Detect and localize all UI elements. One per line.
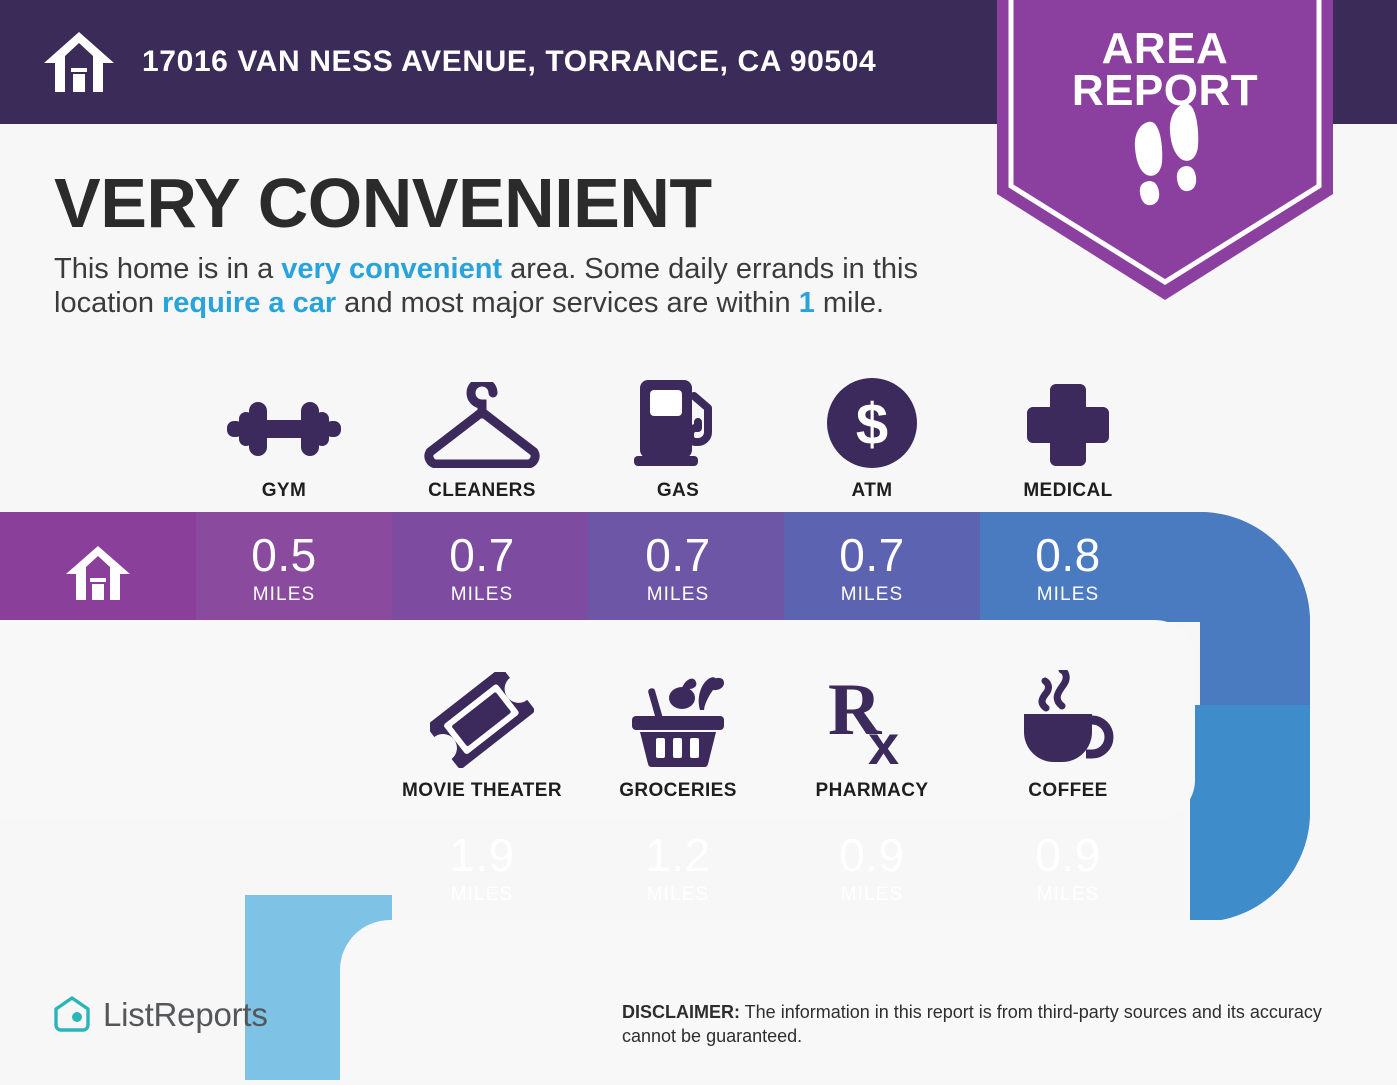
distance-cell-groceries: 1.2 MILES (580, 832, 776, 906)
distance-unit: MILES (970, 584, 1166, 606)
service-label: PHARMACY (774, 780, 970, 802)
distance-cell-pharmacy: 0.9 MILES (774, 832, 970, 906)
page-description: This home is in a very convenient area. … (54, 252, 994, 320)
service-gas: GAS (580, 372, 776, 502)
service-label: COFFEE (970, 780, 1166, 802)
listreports-house-icon (52, 995, 92, 1035)
distance-value: 0.9 (774, 832, 970, 878)
service-label: GYM (186, 480, 382, 502)
distance-value: 1.2 (580, 832, 776, 878)
service-label: CLEANERS (384, 480, 580, 502)
service-gym: GYM (186, 372, 382, 502)
distance-cell-cleaners: 0.7 MILES (384, 532, 580, 606)
distance-cell-atm: 0.7 MILES (774, 532, 970, 606)
service-movie-theater: MOVIE THEATER (384, 672, 580, 802)
distance-unit: MILES (186, 584, 382, 606)
distance-cell-movie-theater: 1.9 MILES (384, 832, 580, 906)
basket-icon (580, 672, 776, 768)
distance-unit: MILES (580, 884, 776, 906)
listreports-logo: ListReports (52, 995, 268, 1035)
desc-highlight-3: 1 (799, 287, 815, 319)
service-groceries: GROCERIES (580, 672, 776, 802)
distance-value: 0.7 (580, 532, 776, 578)
disclaimer: DISCLAIMER: The information in this repo… (622, 1000, 1352, 1049)
desc-part-4: mile. (815, 287, 884, 319)
dollar-circle-icon: $ (774, 372, 970, 468)
desc-highlight-1: very convenient (281, 253, 502, 285)
distance-cell-gas: 0.7 MILES (580, 532, 776, 606)
disclaimer-label: DISCLAIMER: (622, 1002, 740, 1022)
service-atm: $ ATM (774, 372, 970, 502)
rx-icon: R x (774, 672, 970, 768)
home-icon (42, 30, 116, 94)
page-title: VERY CONVENIENT (54, 168, 712, 238)
dumbbell-icon (186, 372, 382, 468)
hanger-icon (384, 372, 580, 468)
distance-unit: MILES (774, 884, 970, 906)
distance-values-row-1: 0.5 MILES 0.7 MILES 0.7 MILES 0.7 MILES … (0, 518, 1397, 628)
desc-highlight-2: require a car (162, 287, 336, 319)
distance-value: 0.8 (970, 532, 1166, 578)
distance-unit: MILES (384, 584, 580, 606)
distance-cell-gym: 0.5 MILES (186, 532, 382, 606)
service-label: MEDICAL (970, 480, 1166, 502)
svg-text:$: $ (856, 392, 888, 457)
svg-text:x: x (868, 713, 899, 768)
service-label: MOVIE THEATER (384, 780, 580, 802)
distance-value: 0.7 (384, 532, 580, 578)
distance-unit: MILES (970, 884, 1166, 906)
service-cleaners: CLEANERS (384, 372, 580, 502)
distance-values-row-2: 1.9 MILES 1.2 MILES 0.9 MILES 0.9 MILES (0, 818, 1397, 928)
distance-value: 0.7 (774, 532, 970, 578)
service-medical: MEDICAL (970, 372, 1166, 502)
distance-cell-coffee: 0.9 MILES (970, 832, 1166, 906)
area-report-badge: AREA REPORT (997, 0, 1333, 300)
gas-pump-icon (580, 372, 776, 468)
service-label: GROCERIES (580, 780, 776, 802)
distance-value: 0.9 (970, 832, 1166, 878)
service-label: ATM (774, 480, 970, 502)
distance-cell-medical: 0.8 MILES (970, 532, 1166, 606)
distance-value: 0.5 (186, 532, 382, 578)
distance-value: 1.9 (384, 832, 580, 878)
service-coffee: COFFEE (970, 672, 1166, 802)
desc-part-1: This home is in a (54, 253, 281, 285)
ticket-icon (384, 672, 580, 768)
header-address: 17016 VAN NESS AVENUE, TORRANCE, CA 9050… (142, 45, 876, 79)
service-label: GAS (580, 480, 776, 502)
coffee-cup-icon (970, 672, 1166, 768)
medical-cross-icon (970, 372, 1166, 468)
distance-unit: MILES (384, 884, 580, 906)
service-pharmacy: R x PHARMACY (774, 672, 970, 802)
desc-part-3: and most major services are within (336, 287, 799, 319)
logo-text: ListReports (103, 996, 268, 1034)
distance-unit: MILES (580, 584, 776, 606)
distance-unit: MILES (774, 584, 970, 606)
